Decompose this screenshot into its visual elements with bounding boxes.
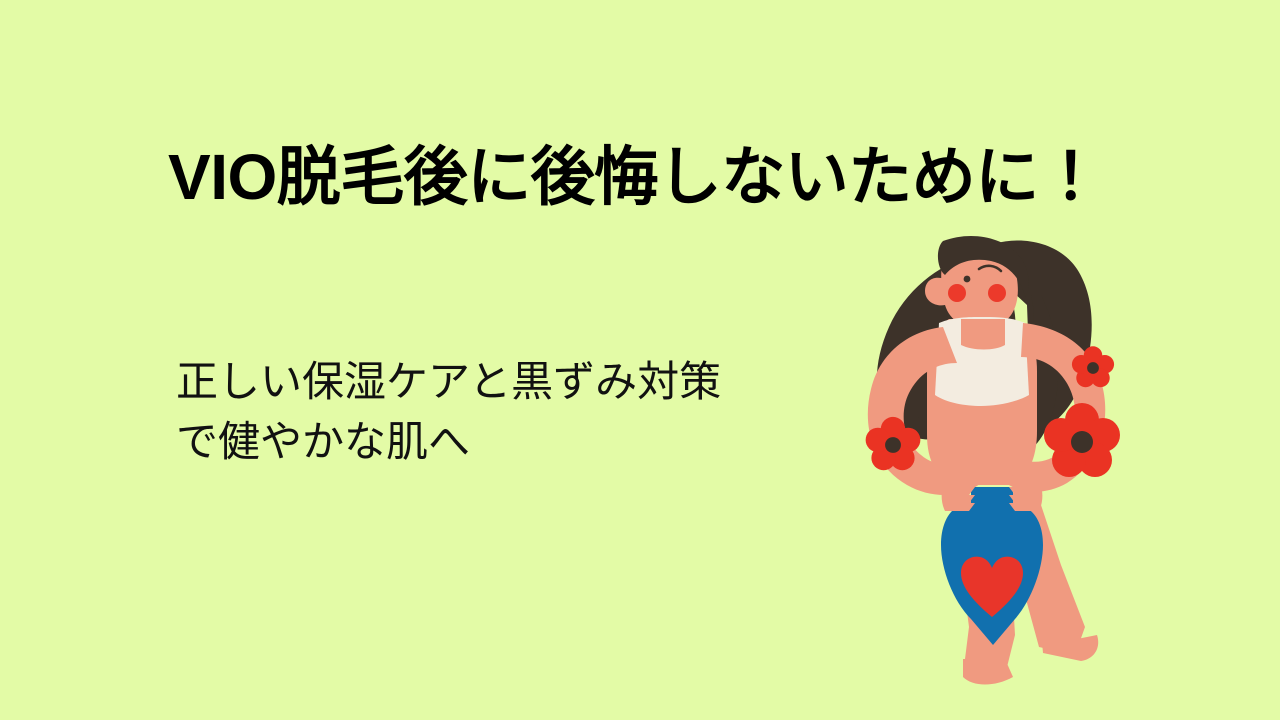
eye-icon xyxy=(964,276,971,283)
underwear-waist-shape xyxy=(971,487,1013,511)
slide-canvas: VIO脱毛後に後悔しないために！ 正しい保湿ケアと黒ずみ対策 で健やかな肌へ xyxy=(0,0,1280,720)
text-block: VIO脱毛後に後悔しないために！ xyxy=(168,140,868,216)
crop-top-neckline xyxy=(961,319,1005,350)
subtitle-line-2: で健やかな肌へ xyxy=(176,412,856,472)
subtitle: 正しい保湿ケアと黒ずみ対策 で健やかな肌へ xyxy=(176,352,856,471)
illustration-woman xyxy=(845,235,1155,685)
subtitle-line-1: 正しい保湿ケアと黒ずみ対策 xyxy=(176,352,856,412)
page-title: VIO脱毛後に後悔しないために！ xyxy=(168,140,868,216)
blush-right-icon xyxy=(988,284,1006,302)
blush-left-icon xyxy=(948,284,966,302)
